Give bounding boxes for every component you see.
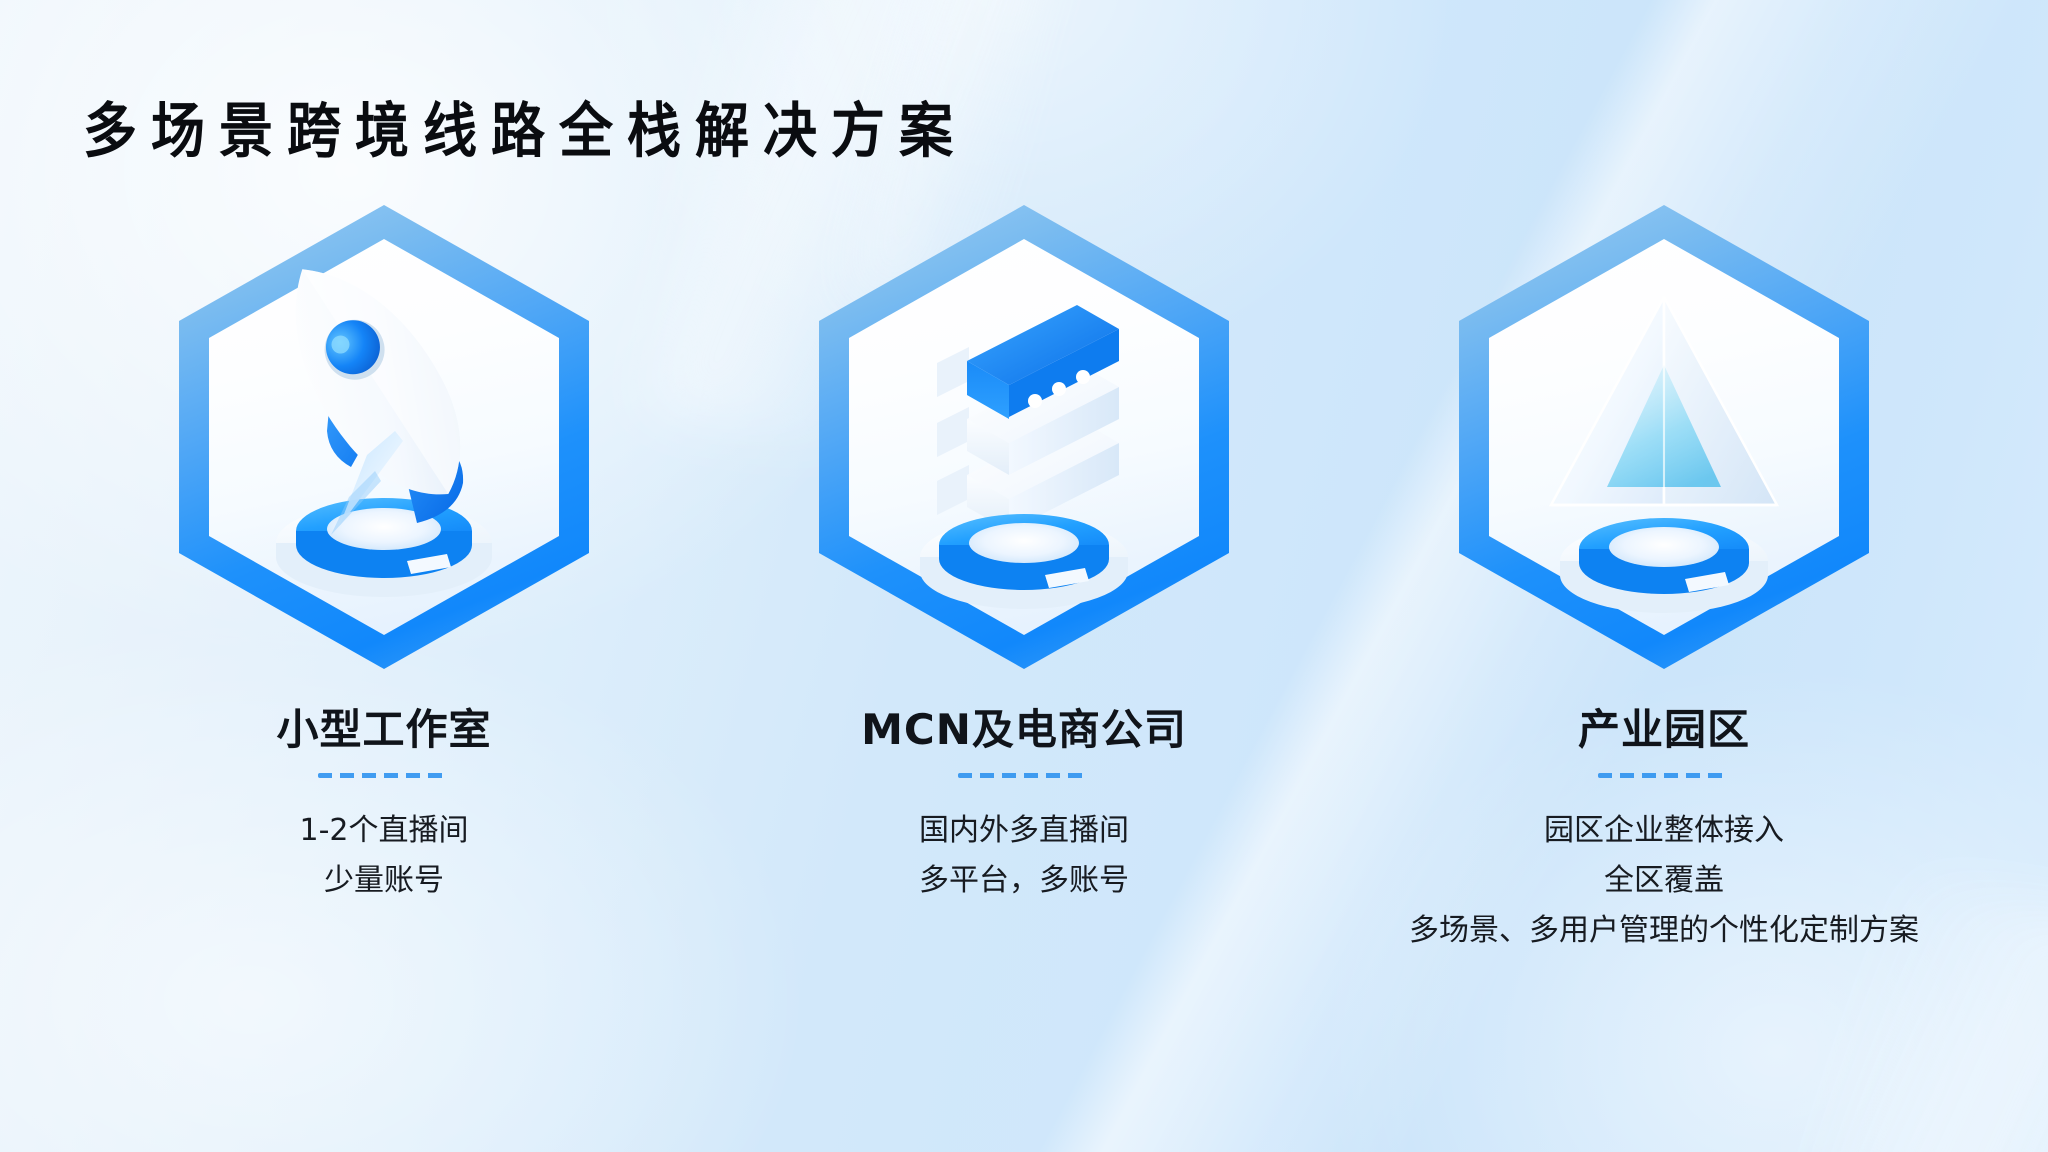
card-description-line: 多平台，多账号 [919, 856, 1129, 906]
card-title: MCN及电商公司 [861, 703, 1187, 757]
hexagon-badge-pyramid [1459, 205, 1869, 669]
card-description: 1-2个直播间 少量账号 [300, 806, 469, 906]
card-description-line: 全区覆盖 [1409, 856, 1919, 906]
solution-card-mcn-ecommerce[interactable]: MCN及电商公司 国内外多直播间 多平台，多账号 [704, 205, 1344, 906]
slide-canvas: 多场景跨境线路全栈解决方案 [0, 0, 2048, 1152]
card-divider [318, 773, 450, 778]
card-description-line: 1-2个直播间 [300, 806, 469, 856]
solution-card-industrial-park[interactable]: 产业园区 园区企业整体接入 全区覆盖 多场景、多用户管理的个性化定制方案 [1344, 205, 1984, 956]
card-description-line: 园区企业整体接入 [1409, 806, 1919, 856]
solution-card-list: 小型工作室 1-2个直播间 少量账号 [0, 205, 2048, 956]
hexagon-badge-rocket [179, 205, 589, 669]
card-description-line: 国内外多直播间 [919, 806, 1129, 856]
card-title: 小型工作室 [276, 703, 491, 757]
card-title: 产业园区 [1578, 703, 1750, 757]
page-title: 多场景跨境线路全栈解决方案 [83, 91, 967, 172]
card-description: 国内外多直播间 多平台，多账号 [919, 806, 1129, 906]
card-divider [958, 773, 1090, 778]
hexagon-badge-server [819, 205, 1229, 669]
card-description-line: 少量账号 [300, 856, 469, 906]
card-description-line: 多场景、多用户管理的个性化定制方案 [1409, 906, 1919, 956]
card-divider [1598, 773, 1730, 778]
solution-card-small-studio[interactable]: 小型工作室 1-2个直播间 少量账号 [64, 205, 704, 906]
card-description: 园区企业整体接入 全区覆盖 多场景、多用户管理的个性化定制方案 [1409, 806, 1919, 956]
